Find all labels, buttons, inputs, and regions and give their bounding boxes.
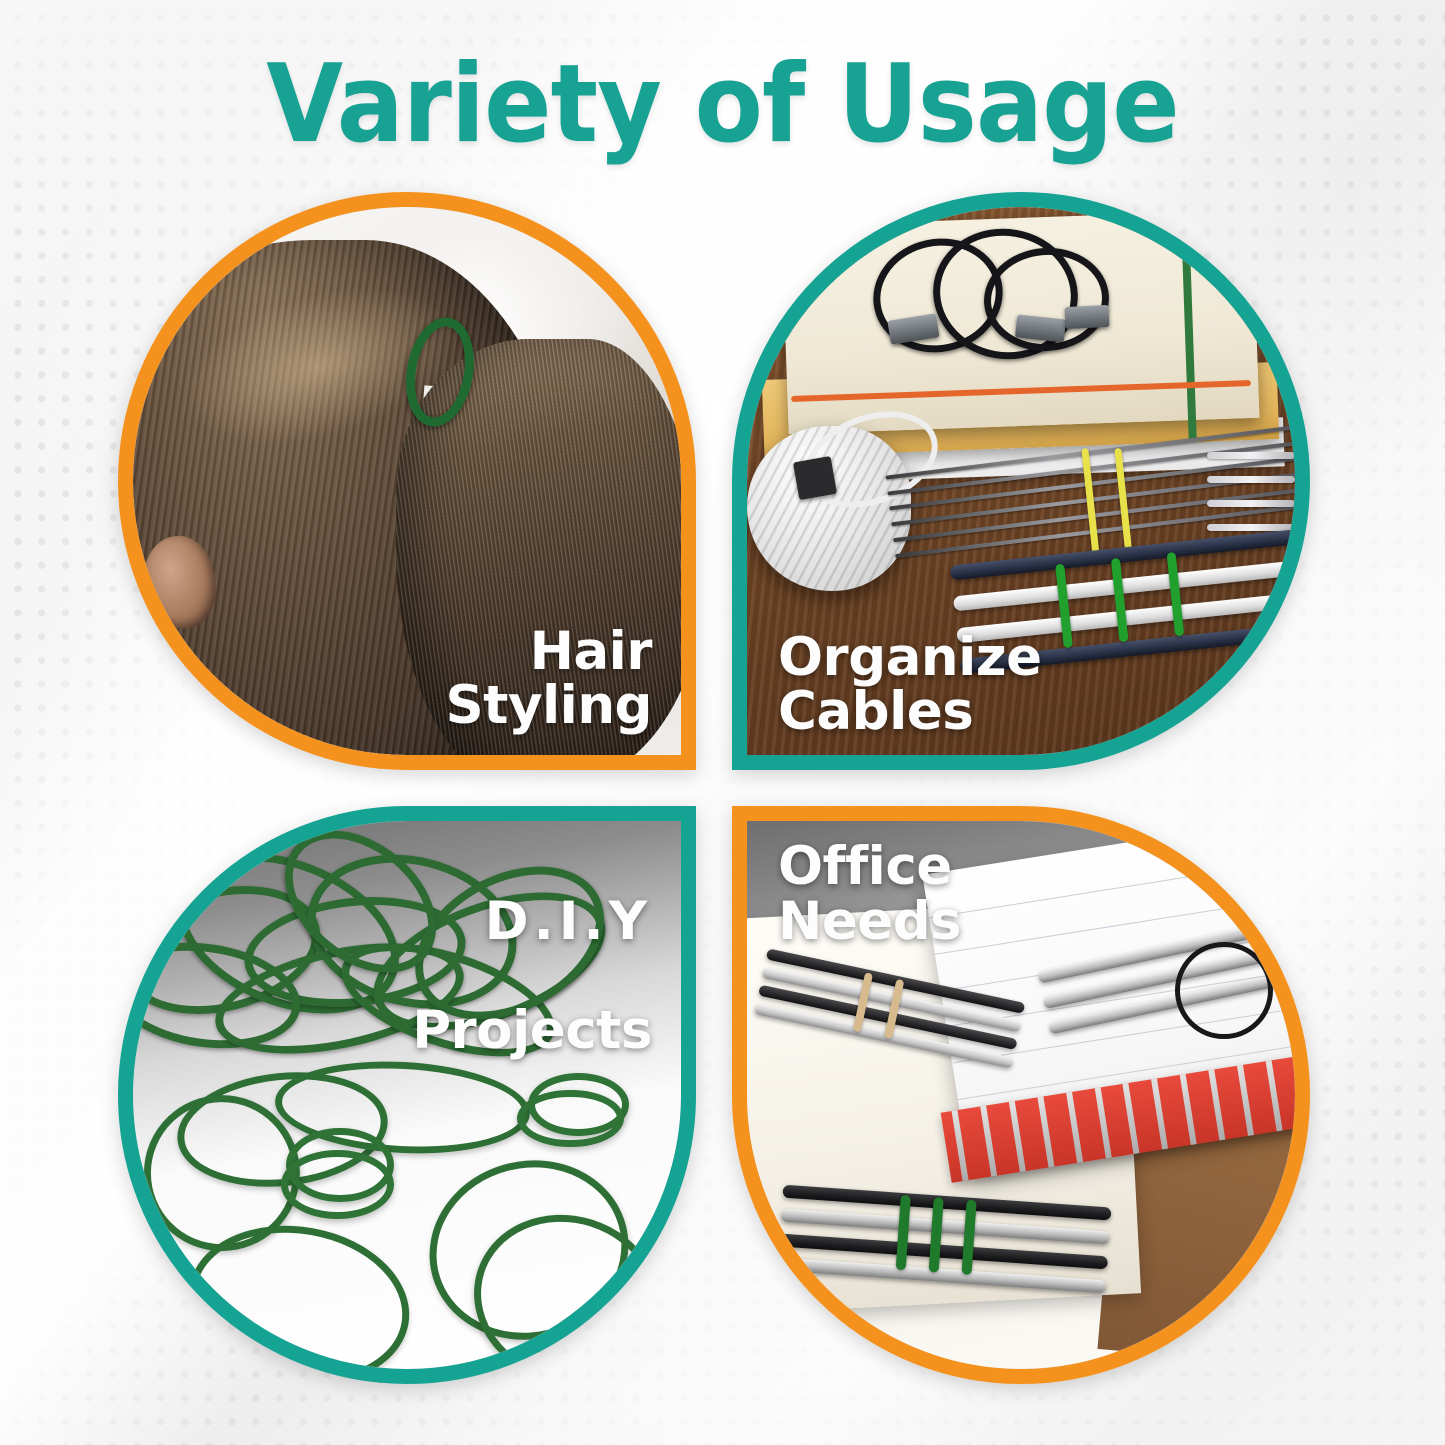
- magsafe-connector: [793, 456, 837, 500]
- pen-tip: [1207, 476, 1295, 483]
- green-rubber-band: [1167, 551, 1185, 636]
- quadrant-label-line2: Projects: [412, 1004, 652, 1059]
- notebook-rule: [929, 857, 1295, 918]
- quadrant-label-hair-styling: Hair Styling: [445, 625, 652, 734]
- usb-connector: [1064, 304, 1109, 328]
- quadrant-label-organize-cables: Organize Cables: [778, 631, 1042, 740]
- quadrant-label-diy-projects: D.I.Y Projects: [412, 840, 652, 1113]
- usb-connector: [1014, 314, 1065, 342]
- quadrant-office-needs[interactable]: Office Needs: [732, 806, 1310, 1384]
- pen-tip: [1207, 452, 1295, 459]
- quadrant-hair-styling[interactable]: Hair Styling: [118, 192, 696, 770]
- usage-quadrant-grid: Hair Styling: [118, 192, 1310, 1384]
- page-title: Variety of Usage: [58, 48, 1387, 161]
- pen-tip: [1207, 500, 1295, 507]
- green-rubber-band: [1111, 557, 1129, 642]
- rolled-rubber-band: [281, 1150, 394, 1219]
- tan-rubber-band: [884, 979, 904, 1039]
- quadrant-diy-projects[interactable]: D.I.Y Projects: [118, 806, 696, 1384]
- quadrant-organize-cables[interactable]: Organize Cables: [732, 192, 1310, 770]
- quadrant-label-line1: D.I.Y: [412, 895, 652, 950]
- pen-tips-group: [1153, 448, 1295, 541]
- coiled-black-cable: [1175, 942, 1273, 1040]
- infographic-page: Variety of Usage: [0, 0, 1445, 1445]
- tan-rubber-band: [853, 973, 873, 1033]
- quadrant-label-office-needs: Office Needs: [778, 840, 961, 949]
- green-rubber-band: [1056, 563, 1074, 648]
